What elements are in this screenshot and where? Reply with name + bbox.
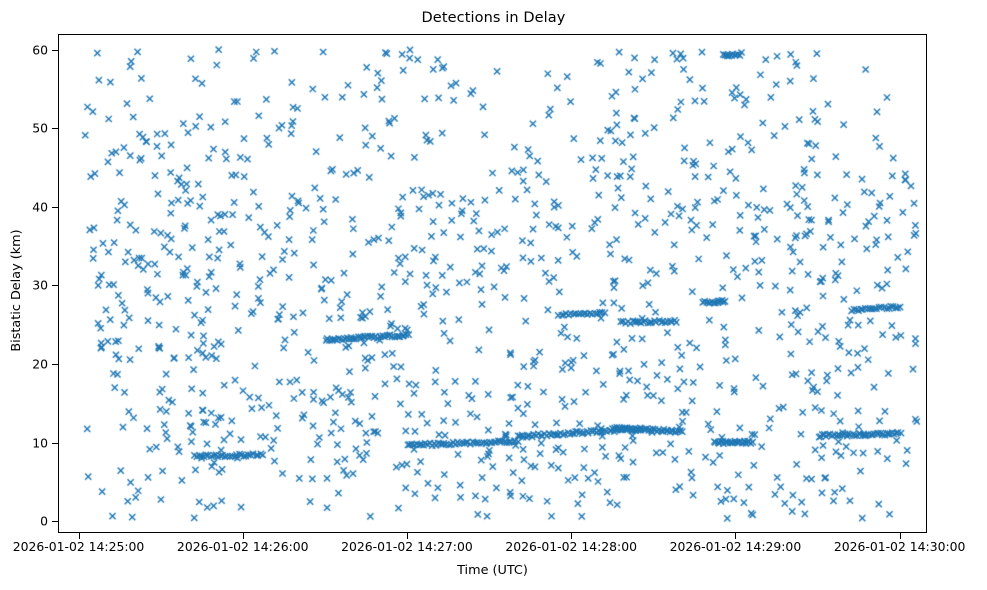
x-tick-label: 2026-01-02 14:30:00 bbox=[834, 539, 966, 554]
x-tick-label: 2026-01-02 14:29:00 bbox=[670, 539, 802, 554]
x-axis-label: Time (UTC) bbox=[58, 563, 927, 578]
matplotlib-figure: Detections in Delay 0102030405060 2026-0… bbox=[0, 0, 987, 590]
x-tick-mark bbox=[735, 533, 736, 539]
x-tick-label: 2026-01-02 14:25:00 bbox=[13, 539, 145, 554]
x-tick-label: 2026-01-02 14:26:00 bbox=[177, 539, 309, 554]
x-tick-mark bbox=[243, 533, 244, 539]
x-tick-label: 2026-01-02 14:27:00 bbox=[341, 539, 473, 554]
x-tick-mark bbox=[571, 533, 572, 539]
y-axis-label: Bistatic Delay (km) bbox=[9, 41, 24, 540]
x-tick-mark bbox=[407, 533, 408, 539]
x-tick-label: 2026-01-02 14:28:00 bbox=[505, 539, 637, 554]
x-tick-mark bbox=[900, 533, 901, 539]
x-axis-ticks: 2026-01-02 14:25:002026-01-02 14:26:0020… bbox=[0, 0, 987, 590]
x-tick-mark bbox=[79, 533, 80, 539]
